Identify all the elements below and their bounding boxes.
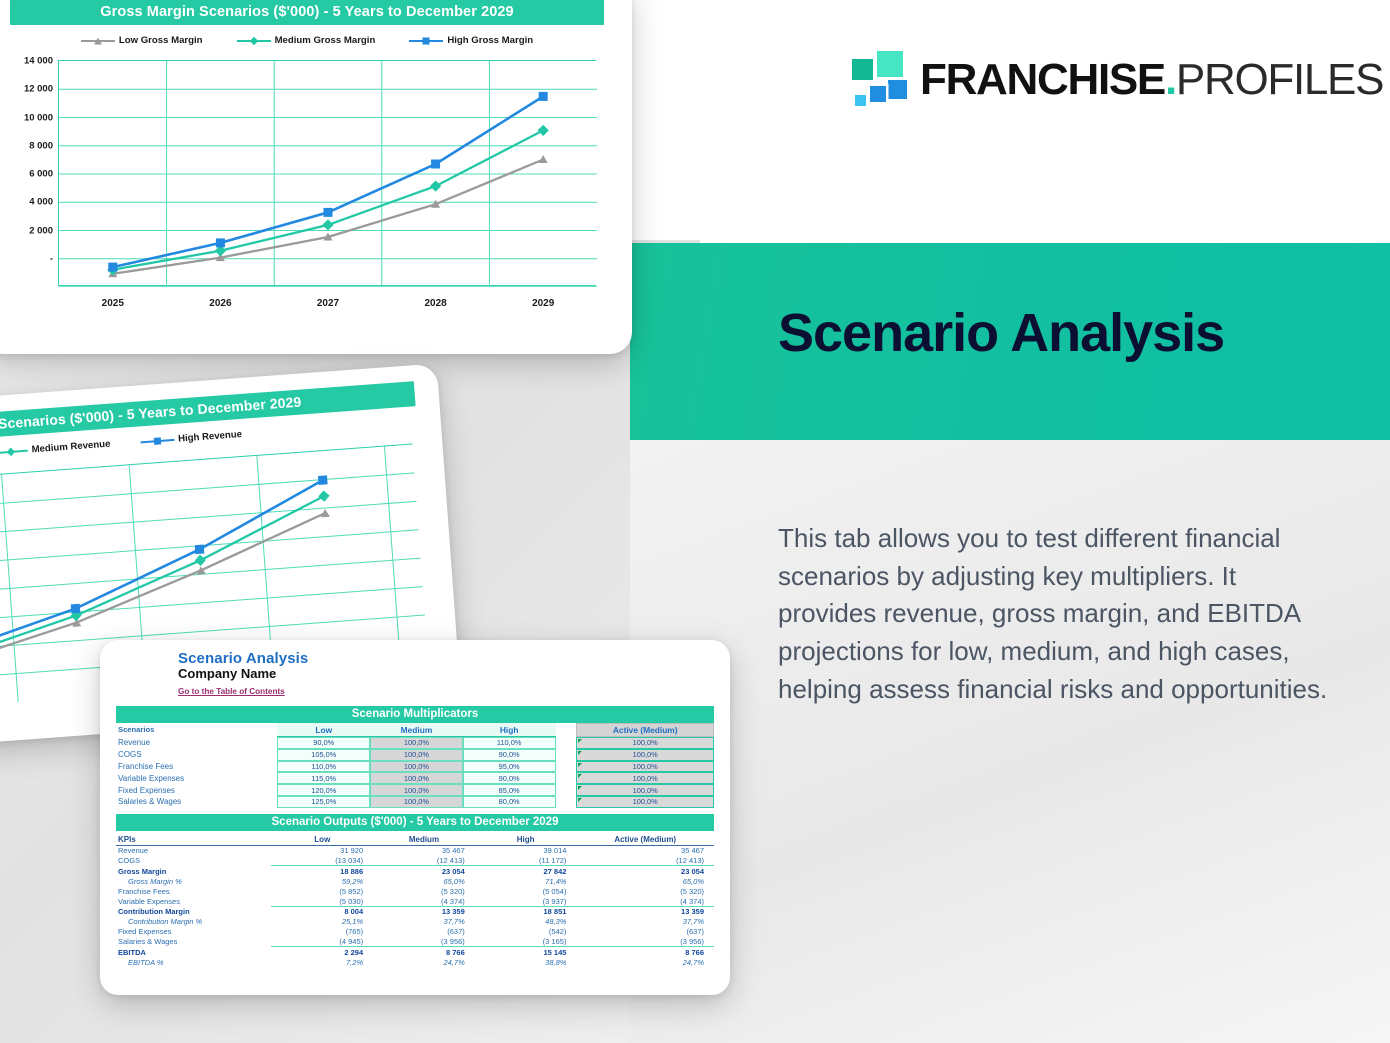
ytick-gm-12000: 12 000 [24, 84, 53, 95]
out-variable-expenses-high: (3 937) [475, 896, 577, 906]
cell-salaries-wages-high[interactable]: 80,0% [463, 796, 556, 808]
xtick-gm-2026: 2026 [209, 298, 231, 309]
table-of-contents-link[interactable]: Go to the Table of Contents [178, 687, 285, 696]
xtick-gm-2027: 2027 [317, 298, 339, 309]
out-franchise-fees-low: (5 852) [271, 886, 373, 896]
out-label-contribution-margin: Contribution Margin [116, 906, 271, 916]
out-gross-margin-high: 27 842 [475, 866, 577, 876]
row-label-fixed-expenses: Fixed Expenses [116, 784, 254, 796]
table-row: Gross Margin % 59,2% 65,0% 71,4% 65,0% [116, 876, 714, 886]
out-label-gross-margin: Gross Margin [116, 866, 271, 876]
out-franchise-fees-high: (5 054) [475, 886, 577, 896]
out-contribution-margin-pct-high: 48,3% [475, 917, 577, 927]
logo-squares-icon [848, 49, 906, 111]
legend-item-medium-gross-margin: Medium Gross Margin [237, 35, 376, 46]
cell-salaries-wages-medium[interactable]: 100,0% [370, 796, 463, 808]
out-gross-margin-active: 23 054 [576, 866, 714, 876]
legend-swatch-high-rev [140, 438, 174, 442]
header-out-active: Active (Medium) [576, 834, 714, 846]
row-label-revenue: Revenue [116, 737, 254, 749]
table-row: Contribution Margin 8 004 13 359 18 851 … [116, 906, 714, 916]
legend-label-high: High Gross Margin [447, 35, 533, 46]
row-label-franchise-fees: Franchise Fees [116, 761, 254, 773]
out-contribution-margin-pct-active: 37,7% [576, 917, 714, 927]
out-label-franchise-fees: Franchise Fees [116, 886, 271, 896]
row-label-variable-expenses: Variable Expenses [116, 772, 254, 784]
header-high: High [463, 723, 556, 737]
xtick-gm-2025: 2025 [102, 298, 124, 309]
table-row: COGS (13 034) (12 413) (11 172) (12 413) [116, 856, 714, 866]
out-label-ebitda-pct: EBITDA % [116, 957, 271, 967]
out-fixed-expenses-high: (542) [475, 927, 577, 937]
out-variable-expenses-active: (4 374) [576, 896, 714, 906]
out-variable-expenses-medium: (4 374) [373, 896, 475, 906]
out-contribution-margin-low: 8 004 [271, 906, 373, 916]
legend-item-high-gross-margin: High Gross Margin [409, 35, 533, 46]
cell-salaries-wages-low[interactable]: 125,0% [277, 796, 370, 808]
cell-cogs-high[interactable]: 90,0% [463, 749, 556, 761]
out-cogs-high: (11 172) [475, 856, 577, 866]
cell-franchise-fees-low[interactable]: 110,0% [277, 761, 370, 773]
out-gross-margin-pct-low: 59,2% [271, 876, 373, 886]
header-out-low: Low [271, 834, 373, 846]
table-row[interactable]: Franchise Fees 110,0% 100,0% 95,0% 100,0… [116, 761, 714, 773]
out-gross-margin-pct-high: 71,4% [475, 876, 577, 886]
cell-fixed-expenses-low[interactable]: 120,0% [277, 784, 370, 796]
ytick-gm-10000: 10 000 [24, 112, 53, 123]
out-cogs-active: (12 413) [576, 856, 714, 866]
out-contribution-margin-pct-medium: 37,7% [373, 917, 475, 927]
table-row[interactable]: Salaries & Wages 125,0% 100,0% 80,0% 100… [116, 796, 714, 808]
cell-franchise-fees-medium[interactable]: 100,0% [370, 761, 463, 773]
page-description: This tab allows you to test different fi… [778, 520, 1338, 708]
out-contribution-margin-medium: 13 359 [373, 906, 475, 916]
ytick-gm-6000: 6 000 [29, 169, 53, 180]
sheet-company: Company Name [178, 666, 714, 681]
out-franchise-fees-medium: (5 320) [373, 886, 475, 896]
brand-logo: FRANCHISE.PROFILES [848, 46, 1348, 114]
out-cogs-medium: (12 413) [373, 856, 475, 866]
logo-dot: . [1165, 55, 1176, 104]
table-row[interactable]: Revenue 90,0% 100,0% 110,0% 100,0% [116, 737, 714, 749]
ytick-gm-2000: 2 000 [29, 225, 53, 236]
xtick-gm-2029: 2029 [532, 298, 554, 309]
sheet-title: Scenario Analysis [178, 650, 714, 667]
ytick-gm-8000: 8 000 [29, 140, 53, 151]
out-revenue-active: 35 467 [576, 845, 714, 855]
out-ebitda-pct-high: 38,8% [475, 957, 577, 967]
out-ebitda-high: 15 145 [475, 947, 577, 957]
ytick-gm-0: - [50, 253, 53, 264]
row-label-cogs: COGS [116, 749, 254, 761]
out-revenue-medium: 35 467 [373, 845, 475, 855]
ytick-gm-4000: 4 000 [29, 197, 53, 208]
cell-revenue-low[interactable]: 90,0% [277, 737, 370, 749]
table-row: Contribution Margin % 25,1% 37,7% 48,3% … [116, 917, 714, 927]
table-header-row-outputs: KPIs Low Medium High Active (Medium) [116, 834, 714, 846]
out-label-cogs: COGS [116, 856, 271, 866]
out-gross-margin-pct-active: 65,0% [576, 876, 714, 886]
out-gross-margin-medium: 23 054 [373, 866, 475, 876]
cell-variable-expenses-high[interactable]: 90,0% [463, 772, 556, 784]
out-label-gross-margin-pct: Gross Margin % [116, 876, 271, 886]
header-low: Low [277, 723, 370, 737]
table-row: Gross Margin 18 886 23 054 27 842 23 054 [116, 866, 714, 876]
header-out-high: High [475, 834, 577, 846]
out-contribution-margin-pct-low: 25,1% [271, 917, 373, 927]
out-cogs-low: (13 034) [271, 856, 373, 866]
cell-revenue-high[interactable]: 110,0% [463, 737, 556, 749]
band-scenario-multiplicators: Scenario Multiplicators [116, 706, 714, 723]
out-ebitda-pct-active: 24,7% [576, 957, 714, 967]
table-row: Variable Expenses (5 030) (4 374) (3 937… [116, 896, 714, 906]
table-row[interactable]: Fixed Expenses 120,0% 100,0% 85,0% 100,0… [116, 784, 714, 796]
cell-cogs-low[interactable]: 105,0% [277, 749, 370, 761]
out-ebitda-low: 2 294 [271, 947, 373, 957]
table-row: Revenue 31 920 35 467 39 014 35 467 [116, 845, 714, 855]
out-fixed-expenses-medium: (637) [373, 927, 475, 937]
table-row: Fixed Expenses (765) (637) (542) (637) [116, 927, 714, 937]
header-kpis: KPIs [116, 834, 271, 846]
out-ebitda-pct-low: 7,2% [271, 957, 373, 967]
cell-salaries-wages-active[interactable]: 100,0% [576, 796, 714, 808]
table-row[interactable]: Variable Expenses 115,0% 100,0% 90,0% 10… [116, 772, 714, 784]
legend-swatch-low [81, 40, 115, 42]
out-gross-margin-pct-medium: 65,0% [373, 876, 475, 886]
legend-item-medium-revenue: Medium Revenue [0, 439, 111, 459]
legend-item-low-gross-margin: Low Gross Margin [81, 35, 203, 46]
cell-cogs-active[interactable]: 100,0% [576, 749, 714, 761]
chart-title-gross-margin: Gross Margin Scenarios ($'000) - 5 Years… [10, 0, 604, 25]
out-ebitda-active: 8 766 [576, 947, 714, 957]
header-medium: Medium [370, 723, 463, 737]
chart-card-gross-margin: Gross Margin Scenarios ($'000) - 5 Years… [0, 0, 632, 354]
chart-svg-gross-margin [59, 61, 597, 287]
out-revenue-high: 39 014 [475, 845, 577, 855]
chart-legend-gross-margin: Low Gross Margin Medium Gross Margin Hig… [0, 35, 614, 46]
logo-word-franchise: FRANCHISE [920, 55, 1165, 104]
cell-variable-expenses-medium[interactable]: 100,0% [370, 772, 463, 784]
spreadsheet-card-scenario-analysis: Scenario Analysis Company Name Go to the… [100, 640, 730, 995]
band-scenario-outputs: Scenario Outputs ($'000) - 5 Years to De… [116, 814, 714, 831]
table-row[interactable]: COGS 105,0% 100,0% 90,0% 100,0% [116, 749, 714, 761]
legend-label-high-rev: High Revenue [178, 429, 243, 445]
table-header-row-multiplicators: Scenarios Low Medium High Active (Medium… [116, 723, 714, 737]
legend-label-low: Low Gross Margin [119, 35, 203, 46]
ytick-gm-14000: 14 000 [24, 56, 53, 67]
legend-swatch-high [409, 40, 443, 42]
out-gross-margin-low: 18 886 [271, 866, 373, 876]
out-contribution-margin-high: 18 851 [475, 906, 577, 916]
table-row: EBITDA % 7,2% 24,7% 38,8% 24,7% [116, 957, 714, 967]
out-contribution-margin-active: 13 359 [576, 906, 714, 916]
cell-franchise-fees-active[interactable]: 100,0% [576, 761, 714, 773]
logo-word-profiles: PROFILES [1176, 55, 1383, 104]
table-row: Franchise Fees (5 852) (5 320) (5 054) (… [116, 886, 714, 896]
legend-label-medium: Medium Gross Margin [275, 35, 376, 46]
header-active-medium: Active (Medium) [576, 723, 714, 737]
out-fixed-expenses-active: (637) [576, 927, 714, 937]
legend-swatch-medium-rev [0, 449, 28, 453]
out-franchise-fees-active: (5 320) [576, 886, 714, 896]
cell-fixed-expenses-medium[interactable]: 100,0% [370, 784, 463, 796]
out-label-fixed-expenses: Fixed Expenses [116, 927, 271, 937]
header-out-medium: Medium [373, 834, 475, 846]
page-title: Scenario Analysis [778, 305, 1224, 362]
cell-variable-expenses-low[interactable]: 115,0% [277, 772, 370, 784]
out-revenue-low: 31 920 [271, 845, 373, 855]
table-row: Salaries & Wages (4 945) (3 956) (3 165)… [116, 937, 714, 947]
cell-cogs-medium[interactable]: 100,0% [370, 749, 463, 761]
out-salaries-wages-medium: (3 956) [373, 937, 475, 947]
cell-franchise-fees-high[interactable]: 95,0% [463, 761, 556, 773]
logo-wordmark: FRANCHISE.PROFILES [920, 58, 1383, 102]
out-ebitda-pct-medium: 24,7% [373, 957, 475, 967]
out-label-ebitda: EBITDA [116, 947, 271, 957]
cell-revenue-medium[interactable]: 100,0% [370, 737, 463, 749]
cell-fixed-expenses-high[interactable]: 85,0% [463, 784, 556, 796]
row-label-salaries-wages: Salaries & Wages [116, 796, 254, 808]
out-salaries-wages-high: (3 165) [475, 937, 577, 947]
out-label-contribution-margin-pct: Contribution Margin % [116, 917, 271, 927]
out-ebitda-medium: 8 766 [373, 947, 475, 957]
out-label-salaries-wages: Salaries & Wages [116, 937, 271, 947]
cell-fixed-expenses-active[interactable]: 100,0% [576, 784, 714, 796]
table-scenario-multiplicators: Scenarios Low Medium High Active (Medium… [116, 723, 714, 808]
cell-revenue-active[interactable]: 100,0% [576, 737, 714, 749]
table-scenario-outputs: KPIs Low Medium High Active (Medium) Rev… [116, 834, 714, 968]
table-row: EBITDA 2 294 8 766 15 145 8 766 [116, 947, 714, 957]
legend-swatch-medium [237, 40, 271, 42]
legend-label-medium-rev: Medium Revenue [31, 439, 110, 456]
legend-item-high-revenue: High Revenue [140, 429, 243, 447]
header-scenarios: Scenarios [116, 723, 254, 737]
cell-variable-expenses-active[interactable]: 100,0% [576, 772, 714, 784]
out-salaries-wages-low: (4 945) [271, 937, 373, 947]
xtick-gm-2028: 2028 [424, 298, 446, 309]
out-fixed-expenses-low: (765) [271, 927, 373, 937]
out-variable-expenses-low: (5 030) [271, 896, 373, 906]
out-salaries-wages-active: (3 956) [576, 937, 714, 947]
chart-plot-gross-margin: 14 000 12 000 10 000 8 000 6 000 4 000 2… [58, 60, 596, 286]
out-label-variable-expenses: Variable Expenses [116, 896, 271, 906]
out-label-revenue: Revenue [116, 845, 271, 855]
